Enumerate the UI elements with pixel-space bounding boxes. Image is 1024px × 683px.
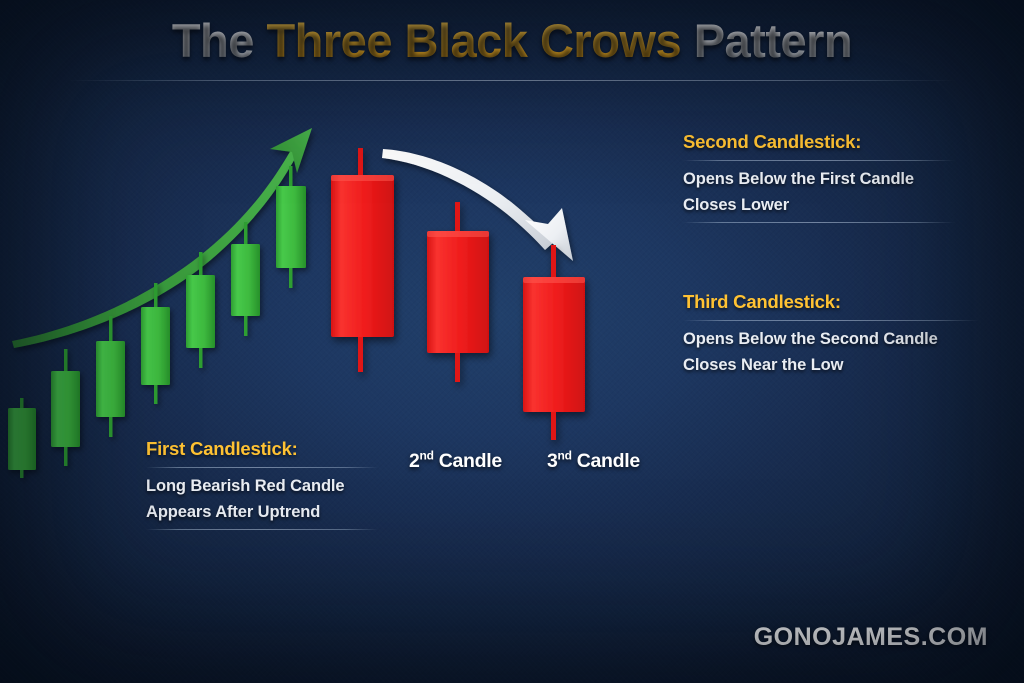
bullish-candle — [276, 166, 306, 288]
callout-third-line-2: Closes Near the Low — [683, 356, 979, 375]
callout-first-body: Long Bearish Red Candle Appears After Up… — [146, 477, 378, 522]
candle-label-third: 3nd Candle — [547, 450, 640, 473]
candle-label-third-word: Candle — [572, 450, 640, 472]
callout-first-candlestick: First Candlestick: Long Bearish Red Cand… — [146, 438, 378, 530]
callout-third-line-1: Opens Below the Second Candle — [683, 330, 979, 349]
callout-third-divider-top — [683, 320, 979, 321]
candle-label-second-ordinal: nd — [420, 449, 434, 463]
bullish-candle — [231, 222, 260, 336]
bearish-candle-group — [331, 148, 585, 440]
callout-first-heading: First Candlestick: — [146, 438, 378, 460]
candle-label-third-ordinal: nd — [558, 449, 572, 463]
bullish-candle — [96, 316, 125, 437]
bearish-candle-second — [427, 202, 489, 382]
callout-first-line-1: Long Bearish Red Candle — [146, 477, 378, 496]
infographic-canvas: The Three Black Crows Pattern — [0, 0, 1024, 683]
bullish-candle — [8, 398, 36, 478]
callout-second-heading: Second Candlestick: — [683, 131, 955, 153]
callout-second-line-2: Closes Lower — [683, 196, 955, 215]
callout-first-line-2: Appears After Uptrend — [146, 503, 378, 522]
callout-second-candlestick: Second Candlestick: Opens Below the Firs… — [683, 131, 955, 223]
callout-second-line-1: Opens Below the First Candle — [683, 170, 955, 189]
bullish-candle — [51, 349, 80, 466]
callout-second-body: Opens Below the First Candle Closes Lowe… — [683, 170, 955, 215]
candle-label-second-number: 2 — [409, 450, 420, 472]
callout-first-divider-top — [146, 467, 378, 468]
candle-label-third-number: 3 — [547, 450, 558, 472]
brand-watermark: GONOJAMES.COM — [754, 623, 988, 652]
callout-first-divider-bottom — [146, 529, 378, 530]
bullish-candle-group — [8, 166, 306, 478]
bearish-candle-first — [331, 148, 394, 372]
candle-label-second-word: Candle — [434, 450, 502, 472]
callout-third-body: Opens Below the Second Candle Closes Nea… — [683, 330, 979, 375]
callout-third-heading: Third Candlestick: — [683, 291, 979, 313]
callout-third-candlestick: Third Candlestick: Opens Below the Secon… — [683, 291, 979, 382]
candle-label-second: 2nd Candle — [409, 450, 502, 473]
callout-second-divider-bottom — [683, 222, 955, 223]
callout-second-divider-top — [683, 160, 955, 161]
bearish-candle-third — [523, 245, 585, 440]
